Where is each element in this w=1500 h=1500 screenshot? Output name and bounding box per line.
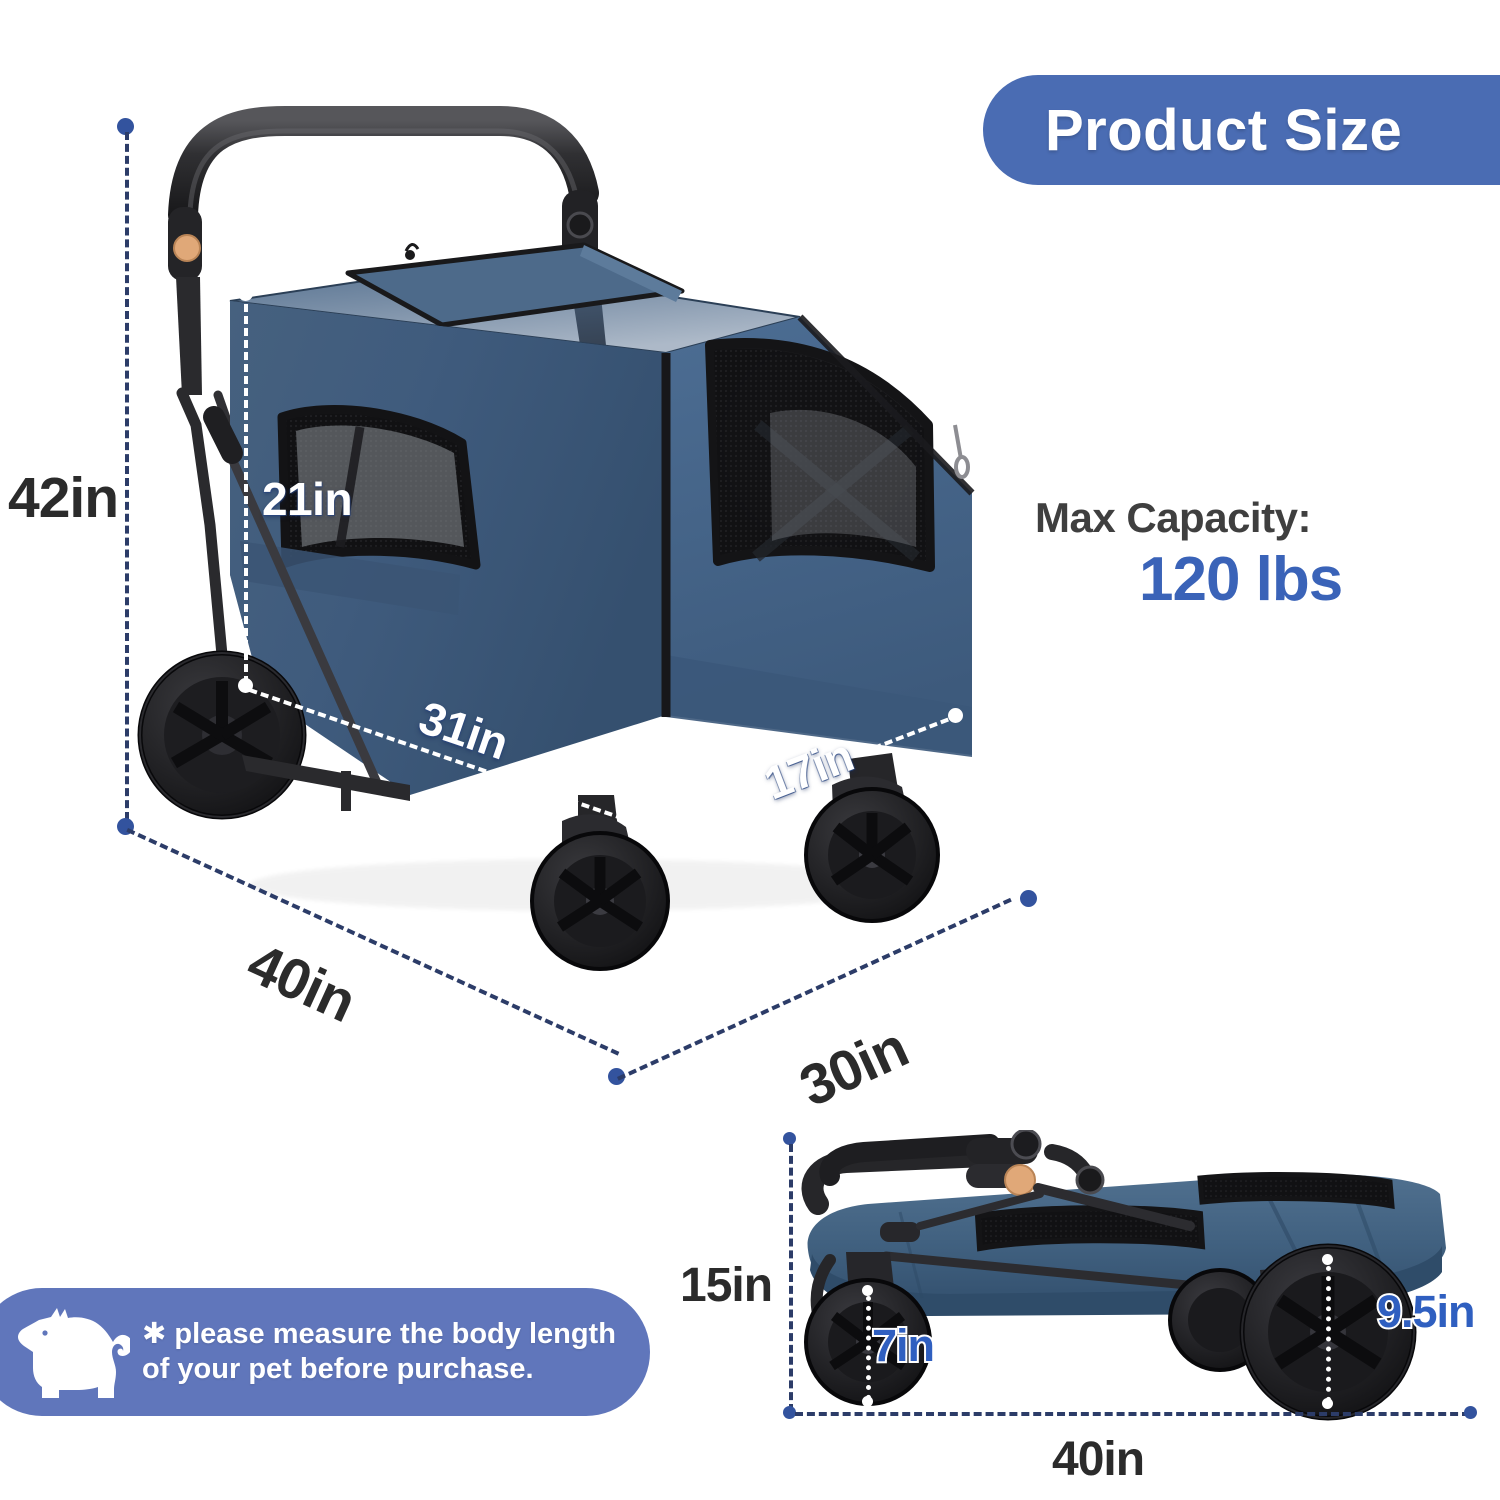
dog-silhouette-icon (18, 1306, 130, 1398)
measure-note-line1: ✱ please measure the body length (142, 1317, 616, 1352)
front-caster-near (532, 795, 668, 969)
guide-node (1464, 1406, 1477, 1419)
max-capacity-block: Max Capacity: 120 lbs (1035, 495, 1455, 612)
measure-note-text: ✱ please measure the body length of your… (142, 1317, 616, 1388)
folded-height-guide-line (789, 1144, 793, 1412)
max-capacity-value: 120 lbs (1139, 547, 1455, 612)
product-size-banner: Product Size (983, 75, 1500, 185)
product-size-title: Product Size (1045, 97, 1402, 164)
dimension-label-rear-wheel-diameter: 9.5in (1377, 1286, 1475, 1338)
hinge-dial-folded (1005, 1165, 1035, 1195)
dimension-label-height-overall: 42in (8, 465, 118, 531)
rear-wheel-diameter-guide (1326, 1266, 1331, 1402)
dimension-label-folded-length: 40in (1052, 1432, 1144, 1487)
guide-node-white (862, 1285, 873, 1296)
front-wheel-diameter-guide (866, 1296, 871, 1400)
measure-note-line2: of your pet before purchase. (142, 1352, 616, 1387)
measure-note-pill: ✱ please measure the body length of your… (0, 1288, 650, 1416)
dimension-label-cabin-height: 21in (262, 472, 352, 526)
height-guide-line (125, 132, 129, 820)
rear-wheel-left (140, 653, 304, 817)
folded-mesh-strip (978, 1208, 1202, 1248)
guide-node-white (1322, 1254, 1333, 1265)
guide-node-white (238, 286, 253, 301)
hinge-dial-left (174, 235, 200, 261)
guide-node-white (862, 1396, 873, 1407)
guide-node (1020, 890, 1037, 907)
dimension-label-front-wheel-diameter: 7in (872, 1320, 934, 1372)
max-capacity-label: Max Capacity: (1035, 495, 1455, 541)
dimension-label-folded-height: 15in (680, 1258, 772, 1313)
guide-node-white (1322, 1398, 1333, 1409)
folded-length-guide-line (795, 1412, 1470, 1416)
cabin-height-guide-line (244, 292, 248, 684)
infographic-canvas: 42in 21in 31in 17in 40in 30in Product Si… (0, 0, 1500, 1500)
guide-node-white (948, 708, 963, 723)
